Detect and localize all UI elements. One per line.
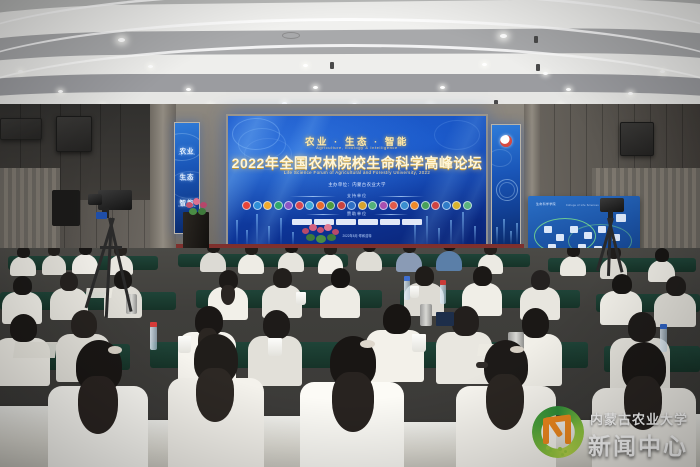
hair-clip bbox=[108, 346, 122, 354]
screen-theme-en: Agriculture, Ecology & Intelligence bbox=[228, 145, 486, 150]
ceiling-downlights bbox=[0, 0, 700, 118]
supporter-logo-22 bbox=[463, 201, 472, 210]
water-bottle bbox=[440, 284, 446, 304]
paper-cup bbox=[268, 338, 282, 356]
banner-left-line2-en: Ecology bbox=[175, 179, 199, 182]
watermark-line1: 内蒙古农业大学 bbox=[590, 409, 688, 428]
paper-cup bbox=[412, 334, 426, 352]
sponsor-logo-6 bbox=[402, 219, 422, 225]
screen-title-en: Life Science Forum of Agricultural and F… bbox=[228, 170, 486, 175]
supporter-logo-6 bbox=[295, 201, 304, 210]
notepad bbox=[13, 342, 57, 358]
supporter-logo-9 bbox=[326, 201, 335, 210]
supporter-logo-4 bbox=[274, 201, 283, 210]
podium-flowers bbox=[186, 198, 208, 216]
supporter-logo-7 bbox=[305, 201, 314, 210]
banner-left-line1-en: Agriculture bbox=[175, 153, 199, 156]
watermark-logo: 内蒙古农业大学 新闻中心 bbox=[524, 396, 700, 467]
watermark-line2: 新闻中心 bbox=[588, 427, 688, 461]
supporter-logo-14 bbox=[379, 201, 388, 210]
wall-vent bbox=[0, 118, 42, 140]
supporter-logo-row bbox=[228, 201, 486, 210]
eyeglasses-icon bbox=[476, 362, 488, 368]
paper-cup bbox=[410, 286, 419, 298]
supporter-logo-5 bbox=[284, 201, 293, 210]
imau-logo-icon bbox=[532, 406, 584, 458]
wall-speaker-lower bbox=[52, 190, 80, 226]
sponsor-logo-5 bbox=[380, 219, 400, 225]
sponsor-logo-4 bbox=[358, 219, 378, 225]
sponsor-logo-row bbox=[228, 219, 486, 225]
hair-clip bbox=[360, 340, 375, 348]
university-emblem-icon bbox=[500, 135, 512, 147]
supporter-logo-17 bbox=[410, 201, 419, 210]
supporter-logo-8 bbox=[316, 201, 325, 210]
supporter-logo-19 bbox=[431, 201, 440, 210]
supporter-logo-20 bbox=[442, 201, 451, 210]
flower-arrangement bbox=[300, 222, 344, 244]
supporter-logo-15 bbox=[389, 201, 398, 210]
screen-host-line: 主办单位：内蒙古农业大学 bbox=[228, 182, 486, 188]
supporter-logo-21 bbox=[452, 201, 461, 210]
supporter-logo-18 bbox=[421, 201, 430, 210]
loudspeaker-icon bbox=[56, 116, 92, 152]
video-camera-icon bbox=[98, 190, 132, 210]
conference-hall-photo: 农业 · 生态 · 智能 Agriculture, Ecology & Inte… bbox=[0, 0, 700, 467]
supporter-logo-11 bbox=[347, 201, 356, 210]
supporter-logo-13 bbox=[368, 201, 377, 210]
supporter-logo-3 bbox=[263, 201, 272, 210]
camera-tripod-right bbox=[592, 198, 648, 298]
ceiling bbox=[0, 0, 700, 118]
supporter-logo-16 bbox=[400, 201, 409, 210]
main-led-screen: 农业 · 生态 · 智能 Agriculture, Ecology & Inte… bbox=[226, 114, 488, 248]
board-header-cn: 生命科学学院 bbox=[536, 202, 556, 206]
loudspeaker-icon bbox=[620, 122, 654, 156]
vertical-banner-right bbox=[491, 124, 521, 246]
laptop bbox=[436, 312, 454, 326]
supporter-logo-2 bbox=[253, 201, 262, 210]
supporter-logo-12 bbox=[358, 201, 367, 210]
thermos-flask bbox=[420, 304, 432, 326]
water-bottle bbox=[660, 328, 667, 352]
hair-clip bbox=[510, 346, 524, 353]
paper-cup bbox=[296, 292, 306, 305]
camera-screen bbox=[96, 212, 107, 219]
screen-footer-line: 2022年8月·呼和浩特 bbox=[228, 233, 486, 238]
camera-tripod-left bbox=[86, 190, 156, 340]
screen-section-supporters: 支持单位 bbox=[228, 193, 486, 199]
supporter-logo-10 bbox=[337, 201, 346, 210]
supporter-logo-1 bbox=[242, 201, 251, 210]
paper-cup bbox=[178, 336, 191, 353]
screen-section-sponsors: 赞助单位 bbox=[228, 211, 486, 217]
